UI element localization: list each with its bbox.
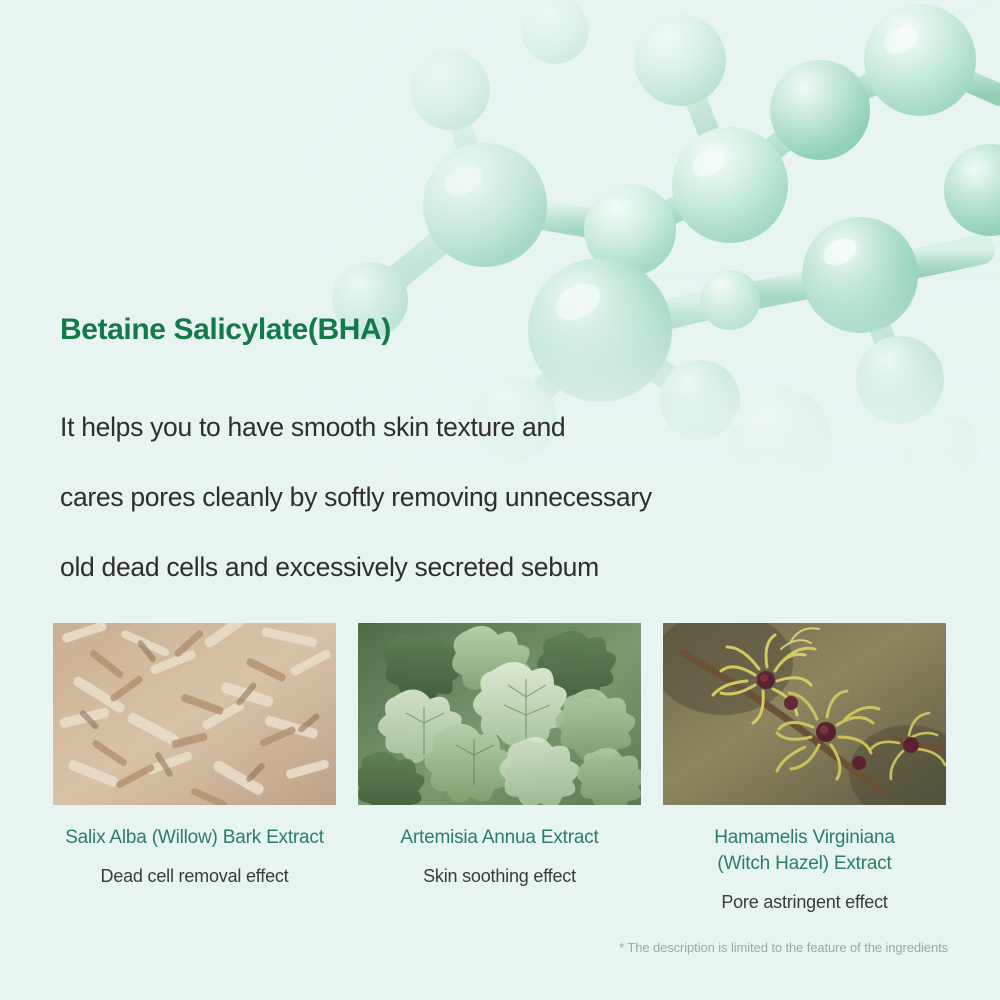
ingredient-card-list: Salix Alba (Willow) Bark Extract Dead ce… xyxy=(53,623,947,915)
willow-bark-chips-photo xyxy=(53,623,336,805)
ingredient-effect: Dead cell removal effect xyxy=(53,863,336,889)
ingredient-name-line: Salix Alba (Willow) Bark Extract xyxy=(53,825,336,851)
ingredient-card: Artemisia Annua Extract Skin soothing ef… xyxy=(358,623,641,915)
ingredient-caption: Hamamelis Virginiana (Witch Hazel) Extra… xyxy=(663,805,946,915)
artemisia-leaves-photo xyxy=(358,623,641,805)
ingredient-name: Salix Alba (Willow) Bark Extract xyxy=(53,825,336,851)
ingredient-name-line: Hamamelis Virginiana xyxy=(663,825,946,851)
ingredient-card: Hamamelis Virginiana (Witch Hazel) Extra… xyxy=(663,623,946,915)
witch-hazel-flowers-photo xyxy=(663,623,946,805)
ingredient-name: Hamamelis Virginiana (Witch Hazel) Extra… xyxy=(663,825,946,877)
description-line-2: cares pores cleanly by softly removing u… xyxy=(60,462,820,532)
ingredient-name-line: (Witch Hazel) Extract xyxy=(663,851,946,877)
description-line-3: old dead cells and excessively secreted … xyxy=(60,532,820,602)
page-title: Betaine Salicylate(BHA) xyxy=(60,313,391,347)
ingredient-effect: Pore astringent effect xyxy=(663,889,946,915)
ingredient-caption: Artemisia Annua Extract Skin soothing ef… xyxy=(358,805,641,889)
description-line-1: It helps you to have smooth skin texture… xyxy=(60,392,820,462)
ingredient-name-line: Artemisia Annua Extract xyxy=(358,825,641,851)
ingredient-effect: Skin soothing effect xyxy=(358,863,641,889)
disclaimer-note: * The description is limited to the feat… xyxy=(619,940,948,955)
ingredient-name: Artemisia Annua Extract xyxy=(358,825,641,851)
ingredient-card: Salix Alba (Willow) Bark Extract Dead ce… xyxy=(53,623,336,915)
product-ingredient-infographic: Betaine Salicylate(BHA) It helps you to … xyxy=(0,0,1000,1000)
description-paragraph: It helps you to have smooth skin texture… xyxy=(60,392,820,602)
ingredient-caption: Salix Alba (Willow) Bark Extract Dead ce… xyxy=(53,805,336,889)
